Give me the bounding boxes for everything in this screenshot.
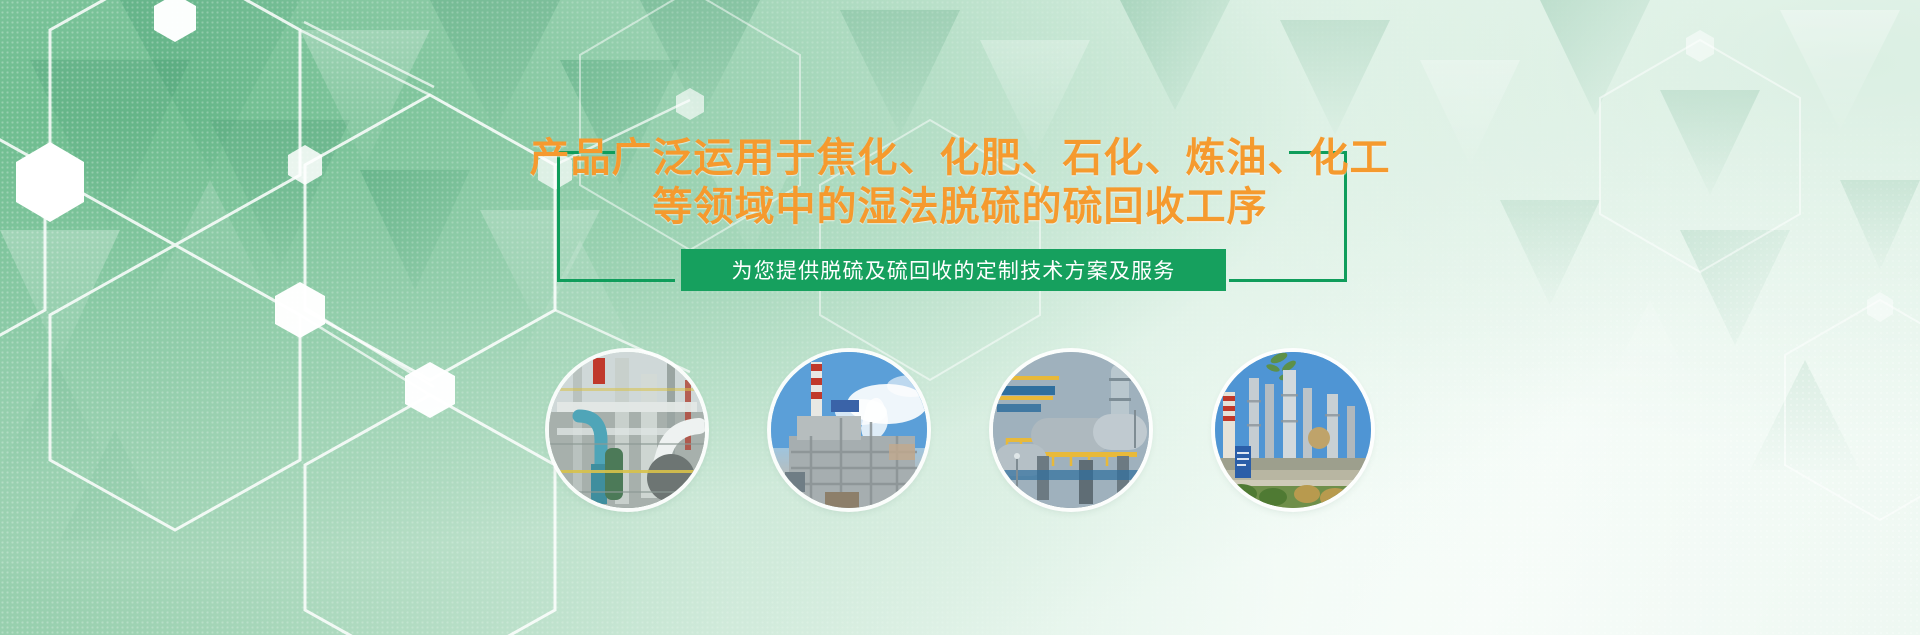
desulfurization-piping-unit-image xyxy=(549,352,705,508)
photo-circle-2[interactable] xyxy=(771,352,927,508)
power-plant-stack-image xyxy=(771,352,927,508)
headline-line-1: 产品广泛运用于焦化、化肥、石化、炼油、化工 xyxy=(0,134,1920,183)
subtitle-text: 为您提供脱硫及硫回收的定制技术方案及服务 xyxy=(732,255,1176,285)
photo-gallery xyxy=(0,352,1920,508)
pressure-vessel-tanks-image xyxy=(993,352,1149,508)
banner-content: 产品广泛运用于焦化、化肥、石化、炼油、化工 等领域中的湿法脱硫的硫回收工序 为您… xyxy=(0,0,1920,635)
subtitle-bar: 为您提供脱硫及硫回收的定制技术方案及服务 xyxy=(681,249,1226,291)
bracket-bottom-left xyxy=(557,279,675,282)
photo-circle-4[interactable] xyxy=(1215,352,1371,508)
bracket-bottom-right xyxy=(1229,279,1347,282)
refinery-distillation-columns-image xyxy=(1215,352,1371,508)
photo-circle-3[interactable] xyxy=(993,352,1149,508)
headline: 产品广泛运用于焦化、化肥、石化、炼油、化工 等领域中的湿法脱硫的硫回收工序 xyxy=(0,134,1920,232)
promo-banner: 产品广泛运用于焦化、化肥、石化、炼油、化工 等领域中的湿法脱硫的硫回收工序 为您… xyxy=(0,0,1920,635)
headline-line-2: 等领域中的湿法脱硫的硫回收工序 xyxy=(0,183,1920,232)
photo-circle-1[interactable] xyxy=(549,352,705,508)
